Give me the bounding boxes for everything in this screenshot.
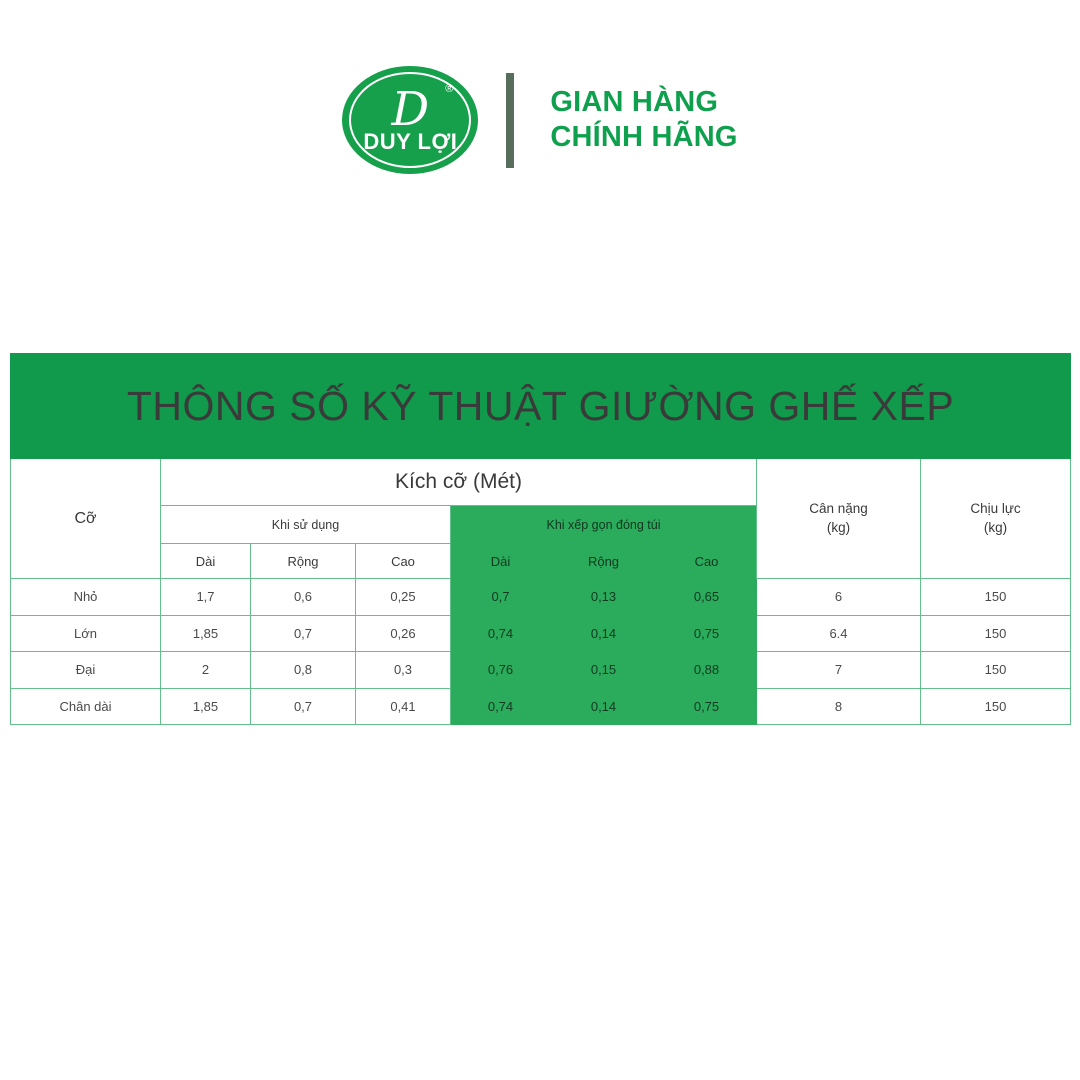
- cell-fold-length: 0,74: [451, 615, 551, 652]
- header-weight-line-2: (kg): [757, 519, 920, 537]
- cell-fold-width: 0,14: [551, 615, 657, 652]
- logo-monogram: D: [392, 86, 430, 133]
- header-load-line-1: Chịu lực: [921, 500, 1070, 518]
- header-use-length: Dài: [161, 544, 251, 579]
- cell-fold-length: 0,7: [451, 579, 551, 616]
- cell-size: Nhỏ: [11, 579, 161, 616]
- cell-load: 150: [921, 615, 1071, 652]
- cell-fold-height: 0,75: [657, 688, 757, 725]
- header-fold-width: Rộng: [551, 544, 657, 579]
- vertical-divider: [506, 73, 514, 168]
- registered-trademark-icon: ®: [445, 84, 453, 95]
- cell-size: Lớn: [11, 615, 161, 652]
- cell-use-height: 0,25: [356, 579, 451, 616]
- header-fold-length: Dài: [451, 544, 551, 579]
- cell-fold-width: 0,15: [551, 652, 657, 689]
- cell-use-length: 1,85: [161, 688, 251, 725]
- cell-load: 150: [921, 579, 1071, 616]
- header-group-in-use: Khi sử dụng: [161, 506, 451, 544]
- cell-size: Đại: [11, 652, 161, 689]
- cell-use-height: 0,26: [356, 615, 451, 652]
- header-use-height: Cao: [356, 544, 451, 579]
- cell-use-length: 2: [161, 652, 251, 689]
- table-title-row: THÔNG SỐ KỸ THUẬT GIƯỜNG GHẾ XẾP: [11, 354, 1071, 459]
- header-weight-line-1: Cân nặng: [757, 500, 920, 518]
- page-title: THÔNG SỐ KỸ THUẬT GIƯỜNG GHẾ XẾP: [11, 354, 1071, 459]
- cell-fold-width: 0,14: [551, 688, 657, 725]
- header-fold-height: Cao: [657, 544, 757, 579]
- cell-use-height: 0,3: [356, 652, 451, 689]
- cell-fold-length: 0,74: [451, 688, 551, 725]
- cell-fold-width: 0,13: [551, 579, 657, 616]
- cell-use-width: 0,6: [251, 579, 356, 616]
- header-load: Chịu lực (kg): [921, 459, 1071, 579]
- header-weight: Cân nặng (kg): [757, 459, 921, 579]
- cell-fold-height: 0,65: [657, 579, 757, 616]
- brand-tagline: GIAN HÀNG CHÍNH HÃNG: [550, 85, 737, 156]
- cell-use-width: 0,7: [251, 615, 356, 652]
- duy-loi-logo-icon: D ® DUY LỢI: [342, 66, 478, 174]
- cell-fold-height: 0,75: [657, 615, 757, 652]
- header-group-folded: Khi xếp gọn đóng túi: [451, 506, 757, 544]
- cell-use-width: 0,8: [251, 652, 356, 689]
- table-row: Đại 2 0,8 0,3 0,76 0,15 0,88 7 150: [11, 652, 1071, 689]
- cell-fold-height: 0,88: [657, 652, 757, 689]
- cell-weight: 7: [757, 652, 921, 689]
- header-use-width: Rộng: [251, 544, 356, 579]
- cell-weight: 6: [757, 579, 921, 616]
- tagline-line-2: CHÍNH HÃNG: [550, 120, 737, 155]
- tagline-line-1: GIAN HÀNG: [550, 85, 737, 120]
- cell-load: 150: [921, 688, 1071, 725]
- table-row: Lớn 1,85 0,7 0,26 0,74 0,14 0,75 6.4 150: [11, 615, 1071, 652]
- cell-fold-length: 0,76: [451, 652, 551, 689]
- specifications-table: THÔNG SỐ KỸ THUẬT GIƯỜNG GHẾ XẾP Cỡ Kích…: [10, 353, 1071, 725]
- cell-load: 150: [921, 652, 1071, 689]
- header-load-line-2: (kg): [921, 519, 1070, 537]
- brand-lockup: D ® DUY LỢI GIAN HÀNG CHÍNH HÃNG: [342, 66, 737, 174]
- logo-brand-name: DUY LỢI: [363, 131, 457, 153]
- brand-header: D ® DUY LỢI GIAN HÀNG CHÍNH HÃNG: [0, 0, 1080, 250]
- cell-weight: 8: [757, 688, 921, 725]
- cell-use-length: 1,7: [161, 579, 251, 616]
- table-row: Chân dài 1,85 0,7 0,41 0,74 0,14 0,75 8 …: [11, 688, 1071, 725]
- cell-use-height: 0,41: [356, 688, 451, 725]
- header-size: Cỡ: [11, 459, 161, 579]
- cell-weight: 6.4: [757, 615, 921, 652]
- cell-use-width: 0,7: [251, 688, 356, 725]
- header-dimensions: Kích cỡ (Mét): [161, 459, 757, 506]
- header-row-1: Cỡ Kích cỡ (Mét) Cân nặng (kg) Chịu lực …: [11, 459, 1071, 506]
- cell-size: Chân dài: [11, 688, 161, 725]
- table-row: Nhỏ 1,7 0,6 0,25 0,7 0,13 0,65 6 150: [11, 579, 1071, 616]
- cell-use-length: 1,85: [161, 615, 251, 652]
